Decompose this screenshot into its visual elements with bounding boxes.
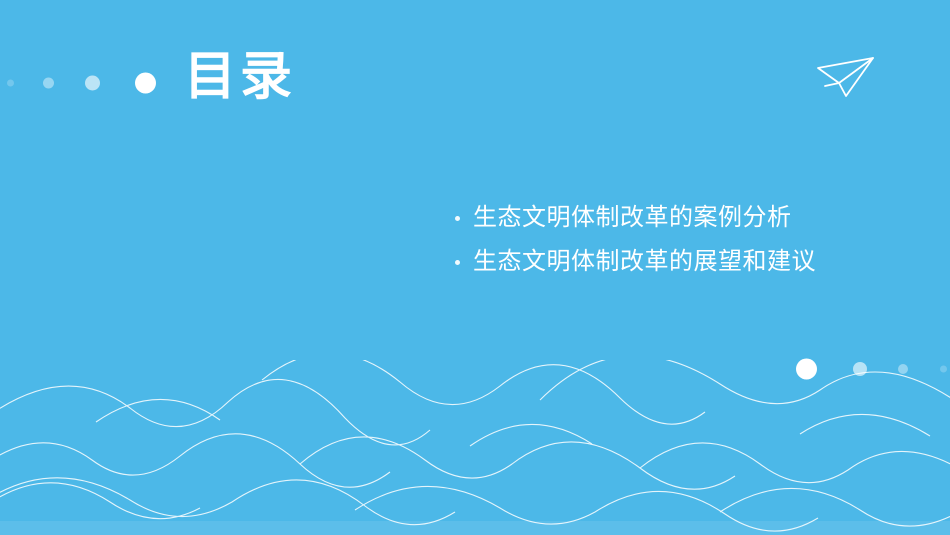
list-item[interactable]: 生态文明体制改革的案例分析 [455, 196, 885, 240]
dot-icon-4 [940, 366, 947, 373]
dot-icon-4 [135, 73, 156, 94]
dot-icon-2 [43, 78, 54, 89]
toc-item-label: 生态文明体制改革的案例分析 [473, 196, 792, 240]
page-title: 目录 [184, 48, 296, 108]
bullet-icon [455, 260, 460, 265]
dot-icon-2 [853, 362, 867, 376]
dot-icon-3 [898, 364, 908, 374]
decorative-dot-row-left [0, 70, 180, 96]
dot-icon-3 [85, 76, 100, 91]
bullet-icon [455, 216, 460, 221]
dot-icon-1 [7, 80, 14, 87]
decorative-dot-row-right [790, 357, 950, 381]
cloud-line-decoration [0, 360, 950, 535]
toc-list: 生态文明体制改革的案例分析 生态文明体制改革的展望和建议 [455, 196, 885, 284]
bottom-band [0, 521, 950, 535]
dot-icon-1 [796, 359, 817, 380]
slide-canvas: 目录 生态文明体制改革的案例分析 生态文明体制改革的展望和建议 [0, 0, 950, 535]
toc-item-label: 生态文明体制改革的展望和建议 [473, 240, 816, 284]
paper-plane-icon [815, 55, 877, 100]
list-item[interactable]: 生态文明体制改革的展望和建议 [455, 240, 885, 284]
